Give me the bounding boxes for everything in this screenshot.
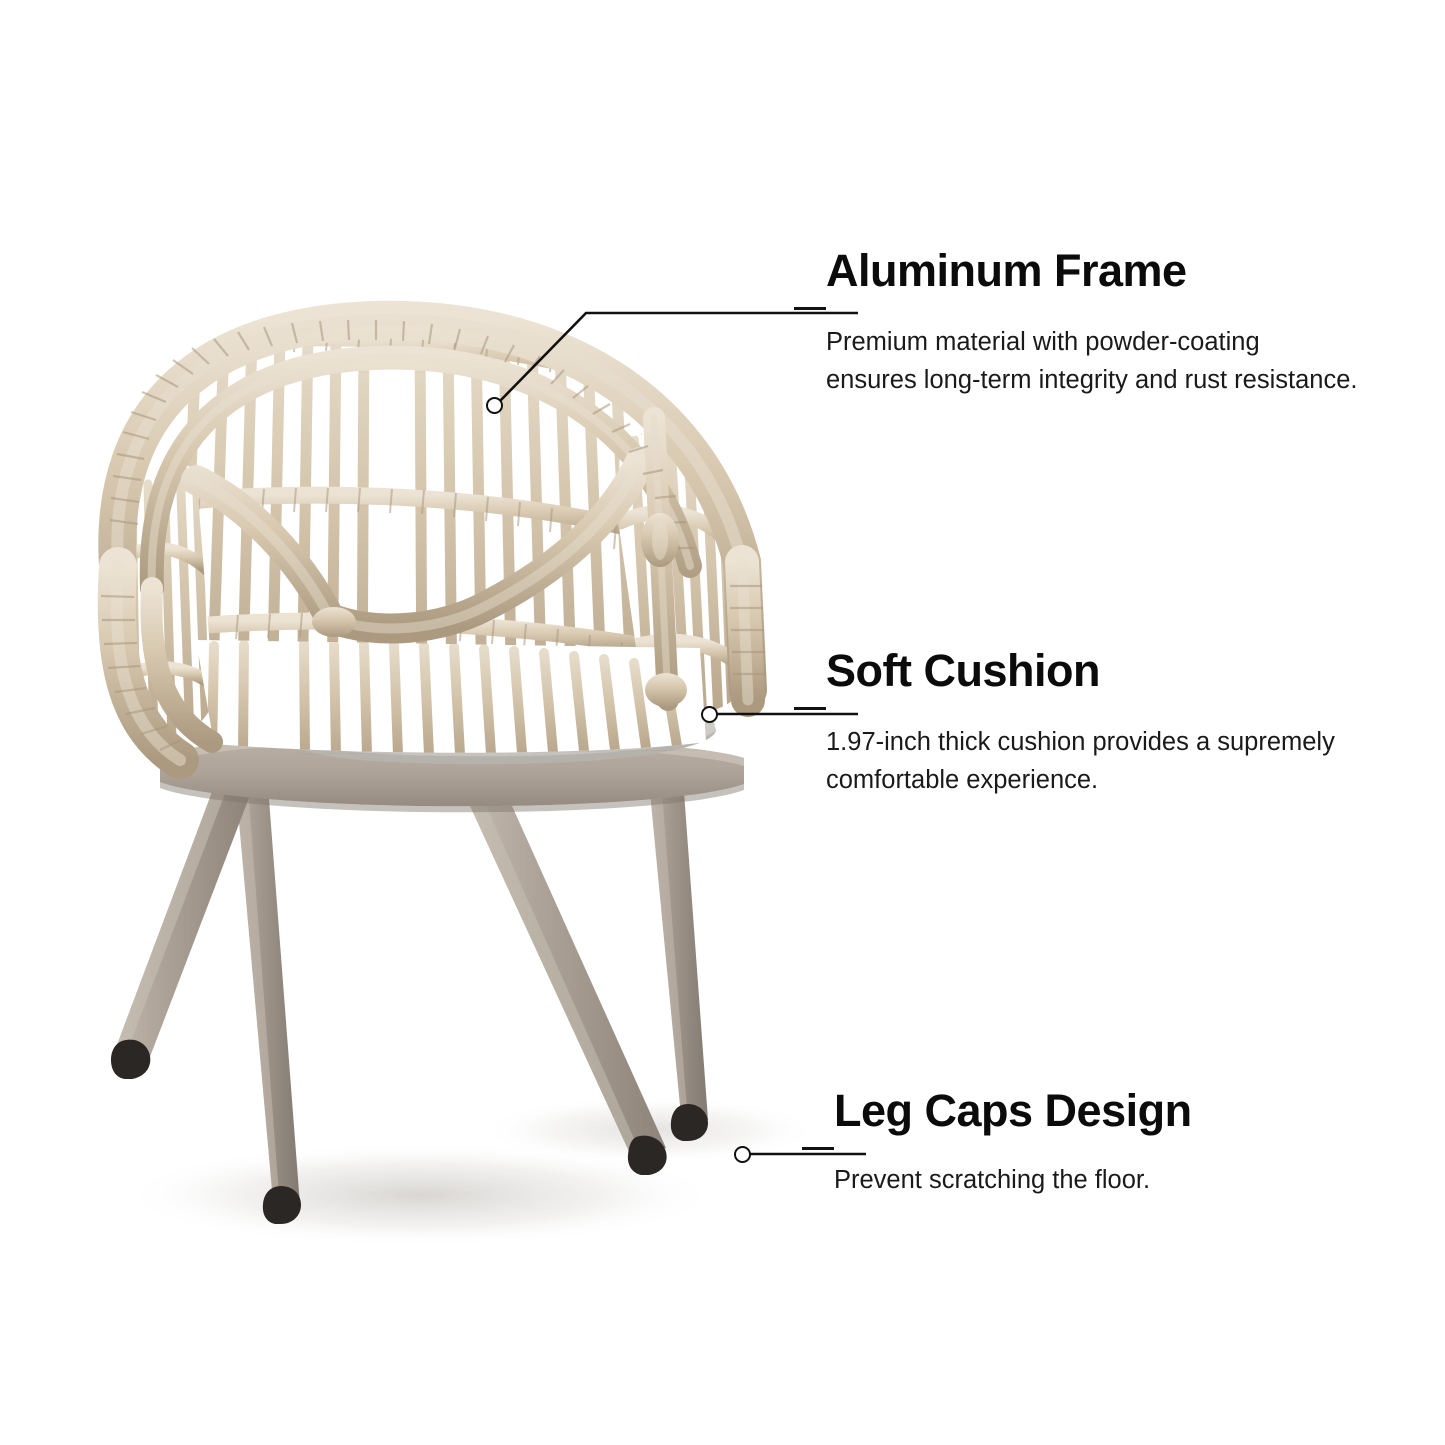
- callout-rule-soft-cushion: [794, 707, 826, 710]
- callout-body-line: 1.97-inch thick cushion provides a supre…: [826, 723, 1386, 761]
- callout-leg-caps-design: Leg Caps Design Prevent scratching the f…: [834, 1088, 1394, 1199]
- infographic-canvas: Aluminum Frame Premium material with pow…: [0, 0, 1445, 1445]
- callout-title-soft-cushion: Soft Cushion: [826, 648, 1386, 693]
- callout-body-line: comfortable experience.: [826, 761, 1386, 799]
- callout-body-leg-caps-design: Prevent scratching the floor.: [834, 1161, 1394, 1199]
- callout-body-line: ensures long-term integrity and rust res…: [826, 361, 1386, 399]
- marker-aluminum-frame: [486, 397, 503, 414]
- callout-body-soft-cushion: 1.97-inch thick cushion provides a supre…: [826, 723, 1386, 799]
- callout-soft-cushion: Soft Cushion 1.97-inch thick cushion pro…: [826, 648, 1386, 799]
- backrest-lower-band: [190, 630, 720, 760]
- callout-rule-aluminum-frame: [794, 307, 826, 310]
- callout-rule-leg-caps-design: [802, 1147, 834, 1150]
- callout-body-line: Prevent scratching the floor.: [834, 1161, 1394, 1199]
- marker-soft-cushion: [701, 706, 718, 723]
- callout-title-aluminum-frame: Aluminum Frame: [826, 248, 1386, 293]
- marker-leg-caps: [734, 1146, 751, 1163]
- callout-body-line: Premium material with powder-coating: [826, 323, 1386, 361]
- callout-body-aluminum-frame: Premium material with powder-coating ens…: [826, 323, 1386, 399]
- chair-leg-back-right: [650, 792, 708, 1141]
- chair-leg-front-left: [111, 790, 252, 1079]
- callout-aluminum-frame: Aluminum Frame Premium material with pow…: [826, 248, 1386, 399]
- callout-title-leg-caps-design: Leg Caps Design: [834, 1088, 1394, 1133]
